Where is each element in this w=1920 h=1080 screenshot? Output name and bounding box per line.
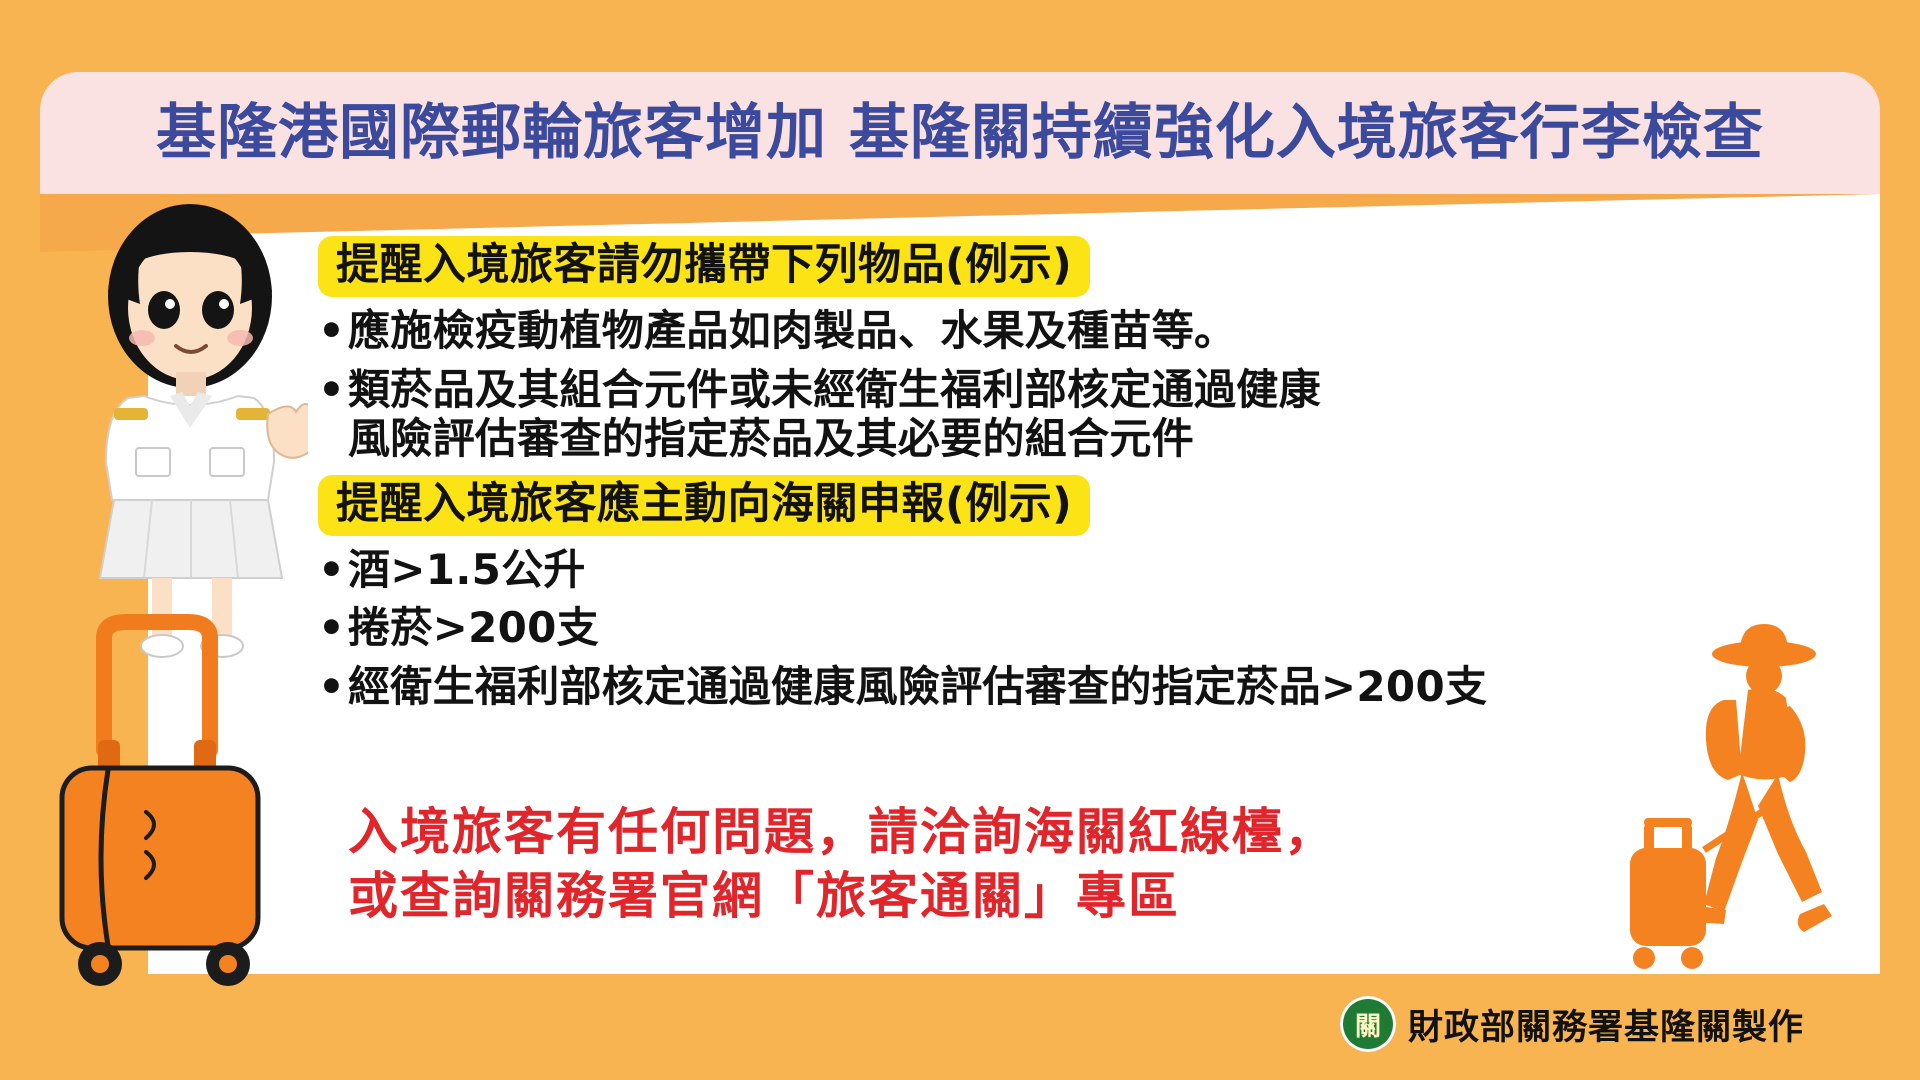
list-item-text: 捲菸>200支 — [348, 603, 1718, 653]
list-item-text: 經衛生福利部核定通過健康風險評估審查的指定菸品>200支 — [348, 662, 1718, 712]
list-item: • 捲菸>200支 — [318, 603, 1718, 653]
title-banner: 基隆港國際郵輪旅客增加 基隆關持續強化入境旅客行李檢查 — [40, 72, 1880, 194]
list-item-text: 酒>1.5公升 — [348, 545, 1718, 595]
highlight-band-declare: 提醒入境旅客應主動向海關申報(例示) — [318, 475, 1090, 536]
customs-emblem-icon — [1340, 996, 1396, 1052]
page-title: 基隆港國際郵輪旅客增加 基隆關持續強化入境旅客行李檢查 — [156, 103, 1764, 163]
red-callout: 入境旅客有任何問題，請洽詢海關紅線檯， 或查詢關務署官網「旅客通關」專區 — [348, 800, 1648, 928]
red-callout-line-2: 或查詢關務署官網「旅客通關」專區 — [348, 864, 1648, 928]
list-item: • 類菸品及其組合元件或未經衛生福利部核定通過健康 — [318, 365, 1718, 415]
bullet-marker: • — [318, 603, 348, 653]
list-item: • 應施檢疫動植物產品如肉製品、水果及種苗等。 — [318, 306, 1718, 356]
list-item-text: 應施檢疫動植物產品如肉製品、水果及種苗等。 — [348, 306, 1718, 356]
bullet-marker: • — [318, 662, 348, 712]
bullet-marker: • — [318, 306, 348, 356]
footer-credit: 財政部關務署基隆關製作 — [1340, 996, 1804, 1052]
list-item: • 酒>1.5公升 — [318, 545, 1718, 595]
orange-suitcase-illustration — [42, 600, 292, 1000]
list-item-text-continued: 風險評估審查的指定菸品及其必要的組合元件 — [348, 414, 1718, 464]
section-heading-prohibited: 提醒入境旅客請勿攜帶下列物品(例示) — [318, 236, 1718, 297]
red-callout-line-1: 入境旅客有任何問題，請洽詢海關紅線檯， — [348, 800, 1648, 864]
list-item-text: 類菸品及其組合元件或未經衛生福利部核定通過健康 — [348, 365, 1718, 415]
section-heading-declare: 提醒入境旅客應主動向海關申報(例示) — [318, 475, 1718, 536]
content-text-column: 提醒入境旅客請勿攜帶下列物品(例示) • 應施檢疫動植物產品如肉製品、水果及種苗… — [318, 236, 1718, 711]
footer-credit-text: 財政部關務署基隆關製作 — [1408, 999, 1804, 1050]
infographic-poster: 基隆港國際郵輪旅客增加 基隆關持續強化入境旅客行李檢查 — [0, 0, 1920, 1080]
female-customs-officer-illustration — [78, 200, 308, 660]
bullet-marker: • — [318, 365, 348, 415]
list-item: • 經衛生福利部核定通過健康風險評估審查的指定菸品>200支 — [318, 662, 1718, 712]
highlight-band-prohibited: 提醒入境旅客請勿攜帶下列物品(例示) — [318, 236, 1090, 297]
bullet-marker: • — [318, 545, 348, 595]
